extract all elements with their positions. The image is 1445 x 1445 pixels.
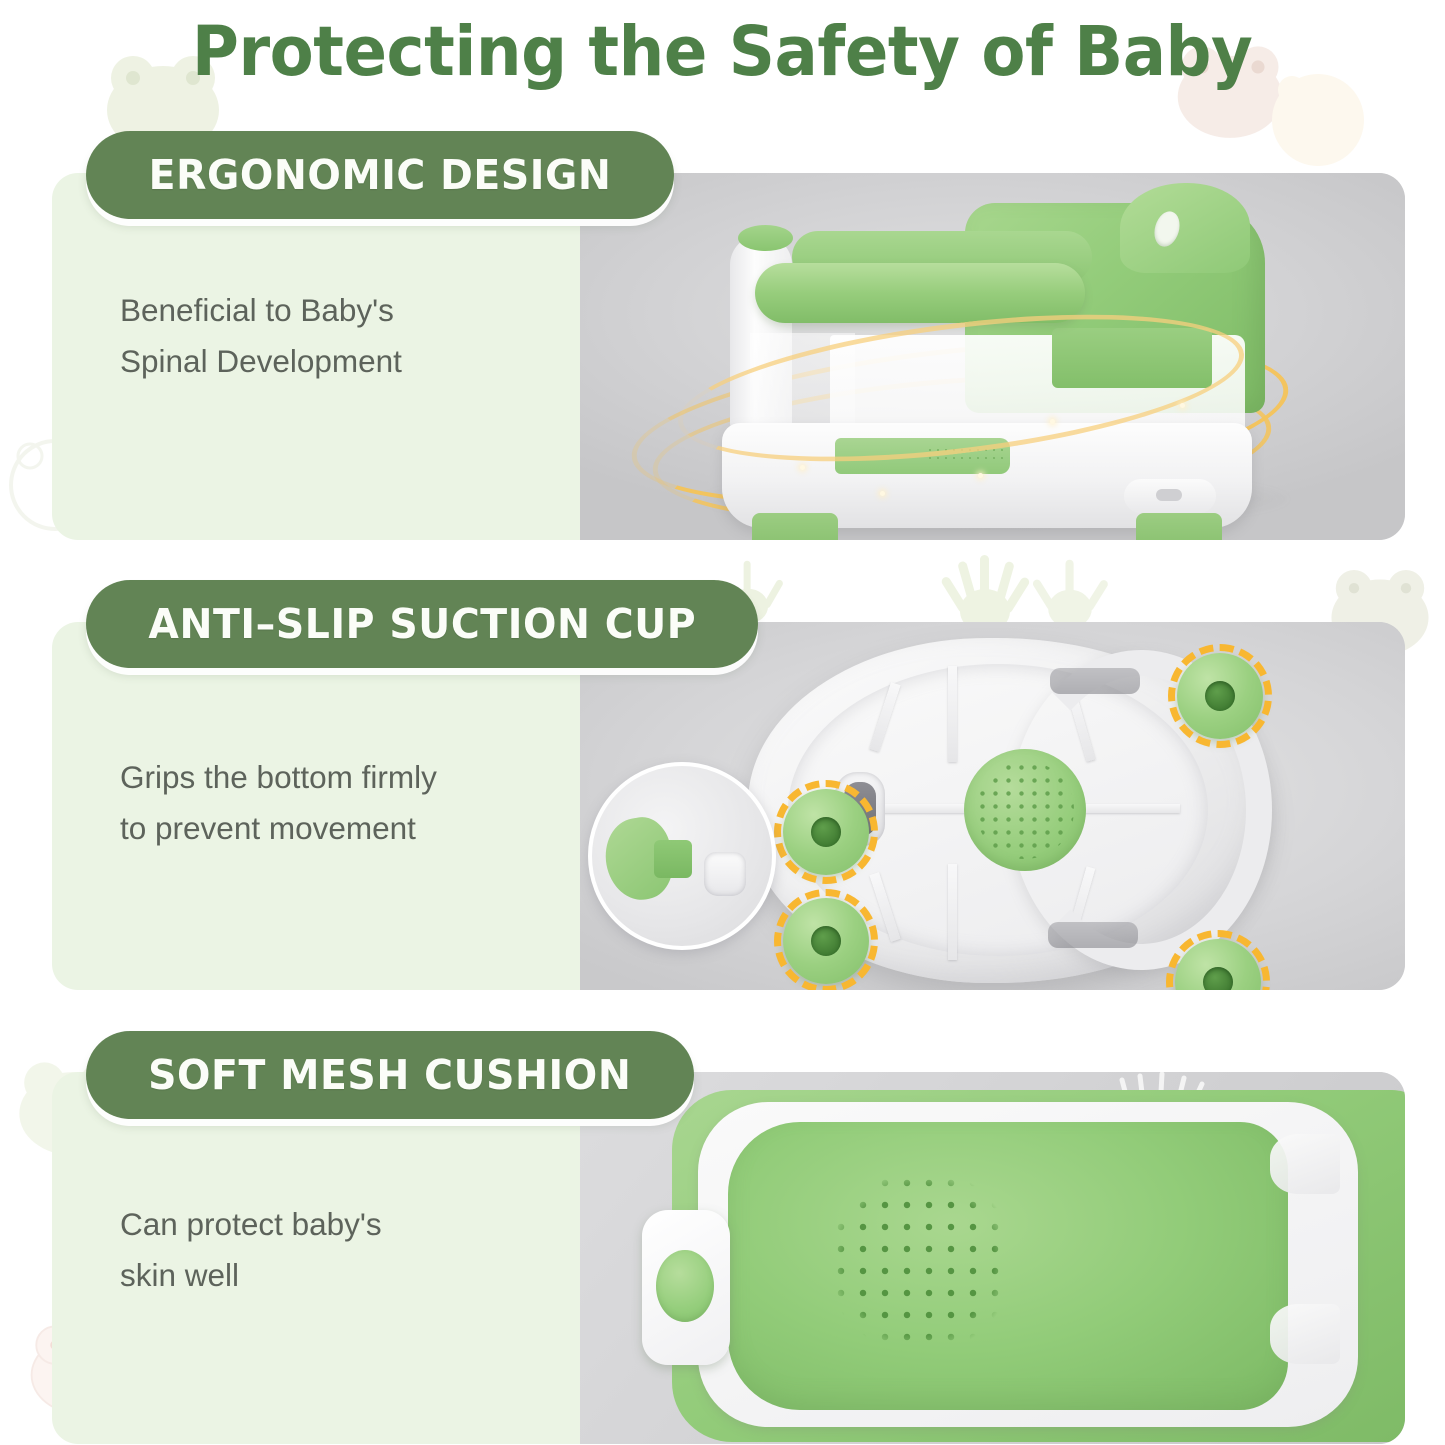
inset-suction-stem [654, 840, 692, 878]
seat-frog-head [1120, 183, 1250, 273]
feature-description: Grips the bottom firmly to prevent movem… [120, 752, 550, 854]
infographic-page: Protecting the Safety of Baby Beneficial… [0, 0, 1445, 1445]
sparkle-icon [800, 465, 805, 470]
suction-cup-bottom-left [774, 889, 878, 990]
description-line-2: skin well [120, 1250, 550, 1301]
feature-section-ergonomic-design: Beneficial to Baby's Spinal Development [52, 173, 1405, 540]
mount-slot [1050, 668, 1140, 694]
page-title: Protecting the Safety of Baby [192, 18, 1252, 87]
inset-mount-socket [704, 852, 746, 896]
seat-latch-clip [1124, 479, 1216, 513]
feature-badge-anti-slip-suction-cup[interactable]: ANTI–SLIP SUCTION CUP [86, 580, 758, 668]
description-line-1: Can protect baby's [120, 1199, 550, 1250]
highlight-dashed-circle [774, 780, 878, 884]
badge-label: ERGONOMIC DESIGN [149, 151, 612, 199]
suction-cup-detail-inset [588, 762, 776, 950]
description-line-2: to prevent movement [120, 803, 550, 854]
product-photo-mesh-cushion [580, 1072, 1405, 1444]
suction-cup-bottom-right [1166, 930, 1270, 990]
sparkle-icon [880, 491, 885, 496]
sparkle-icon [1050, 419, 1055, 424]
badge-label: SOFT MESH CUSHION [148, 1051, 631, 1099]
text-panel: Can protect baby's skin well [52, 1072, 580, 1444]
feature-description: Can protect baby's skin well [120, 1199, 550, 1301]
feature-badge-ergonomic-design[interactable]: ERGONOMIC DESIGN [86, 131, 674, 219]
highlight-dashed-circle [1168, 644, 1272, 748]
mesh-vent-circle [964, 749, 1086, 871]
adjustment-knob [656, 1250, 714, 1322]
feature-section-anti-slip-suction-cup: Grips the bottom firmly to prevent movem… [52, 622, 1405, 990]
feature-badge-soft-mesh-cushion[interactable]: SOFT MESH CUSHION [86, 1031, 694, 1119]
suction-cup-top-right [1168, 644, 1272, 748]
seat-safety-rail [755, 263, 1085, 323]
title-bar: Protecting the Safety of Baby [0, 4, 1445, 100]
sparkle-icon [1180, 403, 1185, 408]
seat-post-cap [738, 225, 793, 251]
seat-side-groove [1270, 1304, 1340, 1364]
seat-leg-left [752, 513, 838, 540]
product-photo-bottom-view [580, 622, 1405, 990]
highlight-dashed-circle [1166, 930, 1270, 990]
mount-slot [1048, 922, 1138, 948]
feature-description: Beneficial to Baby's Spinal Development [120, 285, 550, 387]
seat-side-groove [1270, 1134, 1340, 1194]
seat-leg-right [1136, 513, 1222, 540]
rib-spoke [948, 666, 957, 762]
feature-section-soft-mesh-cushion: Can protect baby's skin well [52, 1072, 1405, 1444]
rib-spoke [948, 864, 957, 960]
product-photo-side-view [580, 173, 1405, 540]
description-line-1: Beneficial to Baby's [120, 285, 550, 336]
highlight-dashed-circle [774, 889, 878, 990]
text-panel: Grips the bottom firmly to prevent movem… [52, 622, 580, 990]
text-panel: Beneficial to Baby's Spinal Development [52, 173, 580, 540]
description-line-1: Grips the bottom firmly [120, 752, 550, 803]
mesh-perforation-pattern [830, 1172, 1010, 1350]
description-line-2: Spinal Development [120, 336, 550, 387]
sparkle-icon [978, 473, 983, 478]
suction-cup-top-left [774, 780, 878, 884]
badge-label: ANTI–SLIP SUCTION CUP [148, 600, 696, 648]
